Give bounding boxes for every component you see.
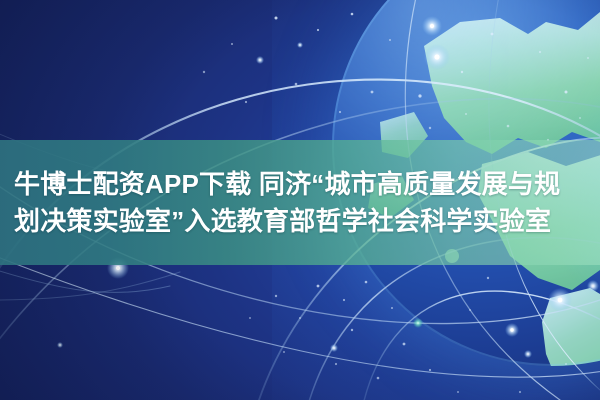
headline-text: 牛博士配资APP下载 同济“城市高质量发展与规划决策实验室”入选教育部哲学社会科… xyxy=(14,166,586,240)
banner-image: 牛博士配资APP下载 同济“城市高质量发展与规划决策实验室”入选教育部哲学社会科… xyxy=(0,0,600,400)
headline-band: 牛博士配资APP下载 同济“城市高质量发展与规划决策实验室”入选教育部哲学社会科… xyxy=(0,140,600,265)
